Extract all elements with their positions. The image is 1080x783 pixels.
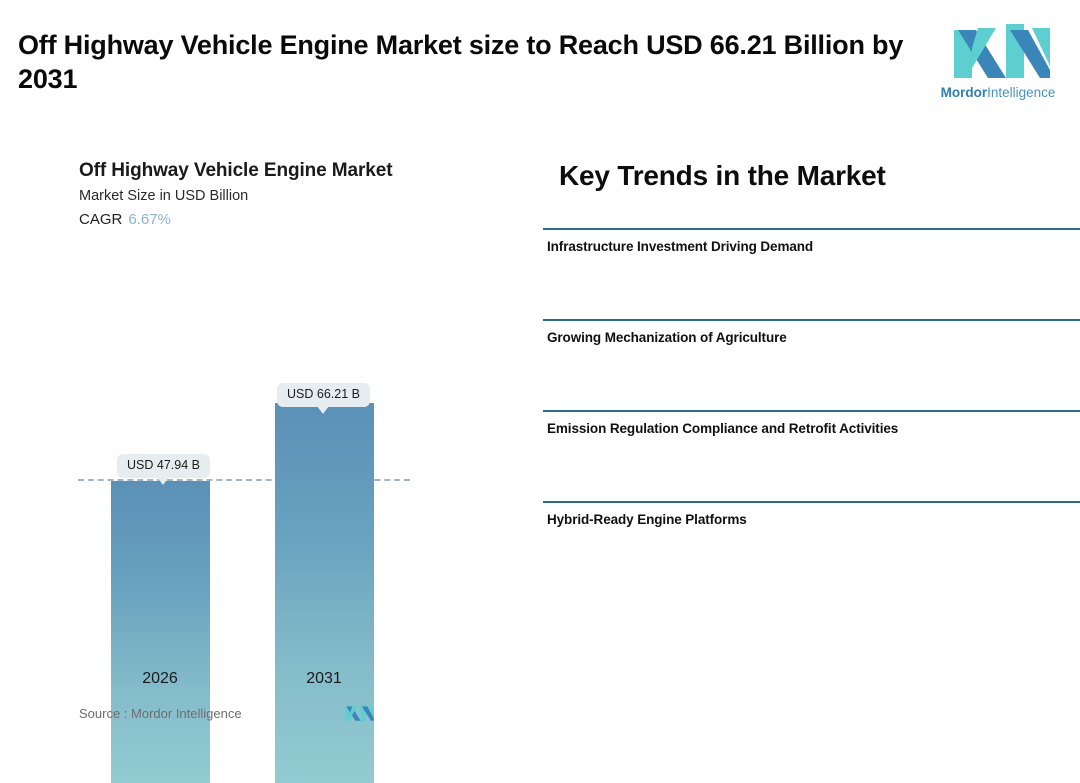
key-trends-heading: Key Trends in the Market [559, 160, 886, 192]
brand-logo: MordorIntelligence [928, 22, 1068, 108]
chart-cagr: CAGR6.67% [79, 211, 171, 228]
trend-label-1: Growing Mechanization of Agriculture [543, 330, 1080, 345]
cagr-value: 6.67% [128, 211, 171, 228]
trend-divider [543, 319, 1080, 321]
mordor-m-icon [954, 22, 1050, 82]
trend-divider [543, 501, 1080, 503]
x-axis-label-2026: 2026 [110, 670, 210, 688]
brand-wordmark-light: Intelligence [987, 85, 1055, 100]
trend-item-1[interactable]: Growing Mechanization of Agriculture [543, 319, 1080, 345]
chart-title: Off Highway Vehicle Engine Market [79, 160, 392, 182]
page-title: Off Highway Vehicle Engine Market size t… [18, 28, 908, 96]
trend-label-3: Hybrid-Ready Engine Platforms [543, 512, 1080, 527]
trend-item-0[interactable]: Infrastructure Investment Driving Demand [543, 228, 1080, 254]
bar-2026 [111, 481, 210, 783]
value-badge-2031: USD 66.21 B [277, 383, 370, 407]
trend-divider [543, 410, 1080, 412]
value-badge-2026: USD 47.94 B [117, 454, 210, 478]
trend-label-2: Emission Regulation Compliance and Retro… [543, 421, 1080, 436]
trend-label-0: Infrastructure Investment Driving Demand [543, 239, 1080, 254]
cagr-label: CAGR [79, 211, 122, 228]
x-axis-label-2031: 2031 [274, 670, 374, 688]
key-trends-panel: Key Trends in the Market Infrastructure … [543, 128, 1080, 605]
brand-wordmark: MordorIntelligence [928, 85, 1068, 100]
trend-item-2[interactable]: Emission Regulation Compliance and Retro… [543, 410, 1080, 436]
chart-source: Source : Mordor Intelligence [79, 706, 242, 721]
chart-subtitle: Market Size in USD Billion [79, 188, 248, 204]
chart-panel: Off Highway Vehicle Engine Market Market… [0, 128, 520, 605]
trend-item-3[interactable]: Hybrid-Ready Engine Platforms [543, 501, 1080, 527]
source-mordor-icon [345, 704, 374, 722]
bar-2031 [275, 403, 374, 783]
brand-wordmark-bold: Mordor [941, 85, 988, 100]
bar-chart-plot [0, 248, 520, 548]
page-header: Off Highway Vehicle Engine Market size t… [0, 0, 1080, 128]
trend-divider [543, 228, 1080, 230]
